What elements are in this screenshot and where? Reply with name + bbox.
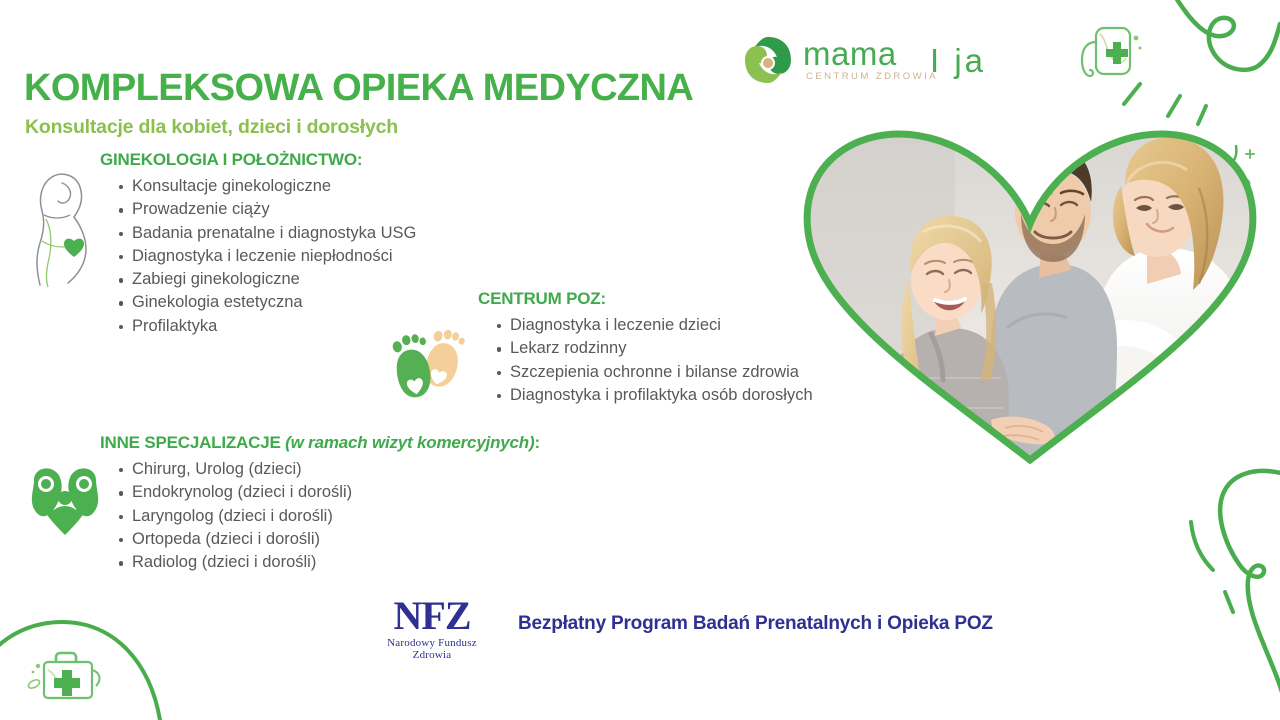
poster-canvas: KOMPLEKSOWA OPIEKA MEDYCZNA Konsultacje … bbox=[0, 0, 1280, 720]
page-title: KOMPLEKSOWA OPIEKA MEDYCZNA bbox=[24, 67, 693, 110]
page-subtitle: Konsultacje dla kobiet, dzieci i dorosły… bbox=[25, 116, 398, 139]
brand-suffix: I ja bbox=[930, 42, 986, 80]
list-item: Badania prenatalne i diagnostyka USG bbox=[132, 222, 416, 245]
section-heading: INNE SPECJALIZACJE (w ramach wizyt komer… bbox=[100, 433, 540, 453]
list-item: Konsultacje ginekologiczne bbox=[132, 175, 416, 198]
section-heading-note: (w ramach wizyt komercyjnych) bbox=[285, 433, 534, 452]
section-heading-main: INNE SPECJALIZACJE bbox=[100, 433, 285, 452]
list-item: Diagnostyka i leczenie dzieci bbox=[510, 314, 813, 337]
list-item: Ginekologia estetyczna bbox=[132, 291, 416, 314]
section-list: Chirurg, Urolog (dzieci) Endokrynolog (d… bbox=[100, 458, 540, 574]
section-centrum-poz: CENTRUM POZ: Diagnostyka i leczenie dzie… bbox=[478, 289, 813, 407]
first-aid-kit-icon bbox=[22, 640, 110, 712]
section-heading-colon: : bbox=[534, 433, 539, 452]
section-heading: CENTRUM POZ: bbox=[478, 289, 813, 309]
footer-claim: Bezpłatny Program Badań Prenatalnych i O… bbox=[518, 613, 993, 635]
brand-tagline: CENTRUM ZDROWIA bbox=[803, 71, 938, 82]
list-item: Diagnostyka i profilaktyka osób dorosłyc… bbox=[510, 384, 813, 407]
list-item: Radiolog (dzieci i dorośli) bbox=[132, 551, 540, 574]
section-list: Diagnostyka i leczenie dzieci Lekarz rod… bbox=[478, 314, 813, 407]
family-heart-icon bbox=[24, 462, 106, 538]
list-item: Lekarz rodzinny bbox=[510, 337, 813, 360]
brand-name: mama bbox=[803, 38, 938, 70]
nfz-subtitle: Narodowy Fundusz Zdrowia bbox=[367, 637, 497, 661]
section-list: Konsultacje ginekologiczne Prowadzenie c… bbox=[100, 175, 416, 338]
list-item: Zabiegi ginekologiczne bbox=[132, 268, 416, 291]
list-item: Szczepienia ochronne i bilanse zdrowia bbox=[510, 361, 813, 384]
section-inne-specjalizacje: INNE SPECJALIZACJE (w ramach wizyt komer… bbox=[100, 433, 540, 574]
nfz-mark: NFZ bbox=[367, 596, 497, 636]
list-item: Ortopeda (dzieci i dorośli) bbox=[132, 528, 540, 551]
family-heart-photo bbox=[795, 128, 1265, 468]
list-item: Laryngolog (dzieci i dorośli) bbox=[132, 505, 540, 528]
section-heading: GINEKOLOGIA I POŁOŻNICTWO: bbox=[100, 150, 416, 170]
pregnant-woman-icon bbox=[18, 163, 104, 287]
list-item: Diagnostyka i leczenie niepłodności bbox=[132, 245, 416, 268]
arc-line-bottom-left-icon bbox=[0, 600, 170, 720]
list-item: Prowadzenie ciąży bbox=[132, 198, 416, 221]
list-item: Profilaktyka bbox=[132, 315, 416, 338]
brand-swirl-icon bbox=[742, 34, 794, 86]
iv-drip-icon bbox=[1068, 20, 1148, 100]
list-item: Endokrynolog (dzieci i dorośli) bbox=[132, 481, 540, 504]
swoosh-line-bottom-icon bbox=[1135, 440, 1280, 720]
list-item: Chirurg, Urolog (dzieci) bbox=[132, 458, 540, 481]
nfz-logo: NFZ Narodowy Fundusz Zdrowia bbox=[367, 596, 497, 661]
brand-logo[interactable]: mama CENTRUM ZDROWIA bbox=[742, 34, 938, 86]
section-ginekologia: GINEKOLOGIA I POŁOŻNICTWO: Konsultacje g… bbox=[100, 150, 416, 338]
